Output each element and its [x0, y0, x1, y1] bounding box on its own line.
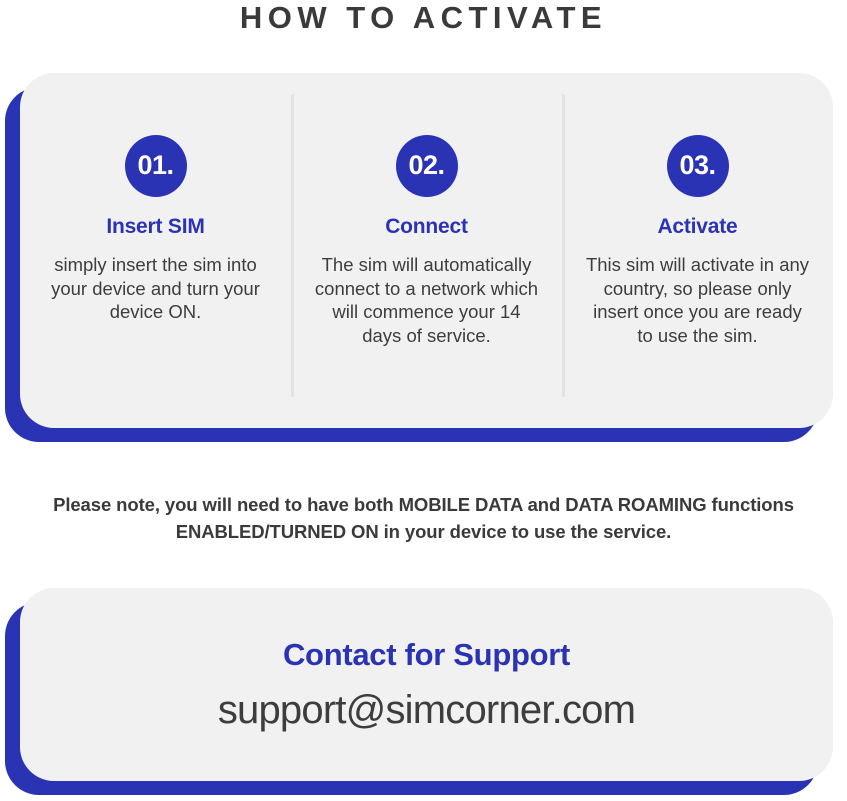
steps-card: 01. Insert SIM simply insert the sim int…	[5, 87, 818, 442]
step-heading: Insert SIM	[106, 215, 204, 239]
contact-heading: Contact for Support	[283, 636, 570, 674]
step-body-text: This sim will activate in any country, s…	[585, 253, 810, 347]
page-title: HOW TO ACTIVATE	[0, 0, 847, 35]
step-body-text: The sim will automatically connect to a …	[314, 253, 539, 347]
step-body-text: simply insert the sim into your device a…	[43, 253, 268, 324]
step-heading: Connect	[385, 215, 468, 239]
contact-content: Contact for Support support@simcorner.co…	[20, 588, 833, 781]
step-number-badge: 03.	[667, 135, 729, 197]
support-email-address[interactable]: support@simcorner.com	[218, 686, 635, 734]
step-heading: Activate	[657, 215, 737, 239]
important-note-text: Please note, you will need to have both …	[0, 491, 847, 545]
step-item-3: 03. Activate This sim will activate in a…	[562, 73, 833, 428]
steps-list: 01. Insert SIM simply insert the sim int…	[20, 73, 833, 428]
step-number-badge: 02.	[396, 135, 458, 197]
contact-card: Contact for Support support@simcorner.co…	[5, 602, 818, 795]
step-item-1: 01. Insert SIM simply insert the sim int…	[20, 73, 291, 428]
step-item-2: 02. Connect The sim will automatically c…	[291, 73, 562, 428]
step-number-badge: 01.	[125, 135, 187, 197]
